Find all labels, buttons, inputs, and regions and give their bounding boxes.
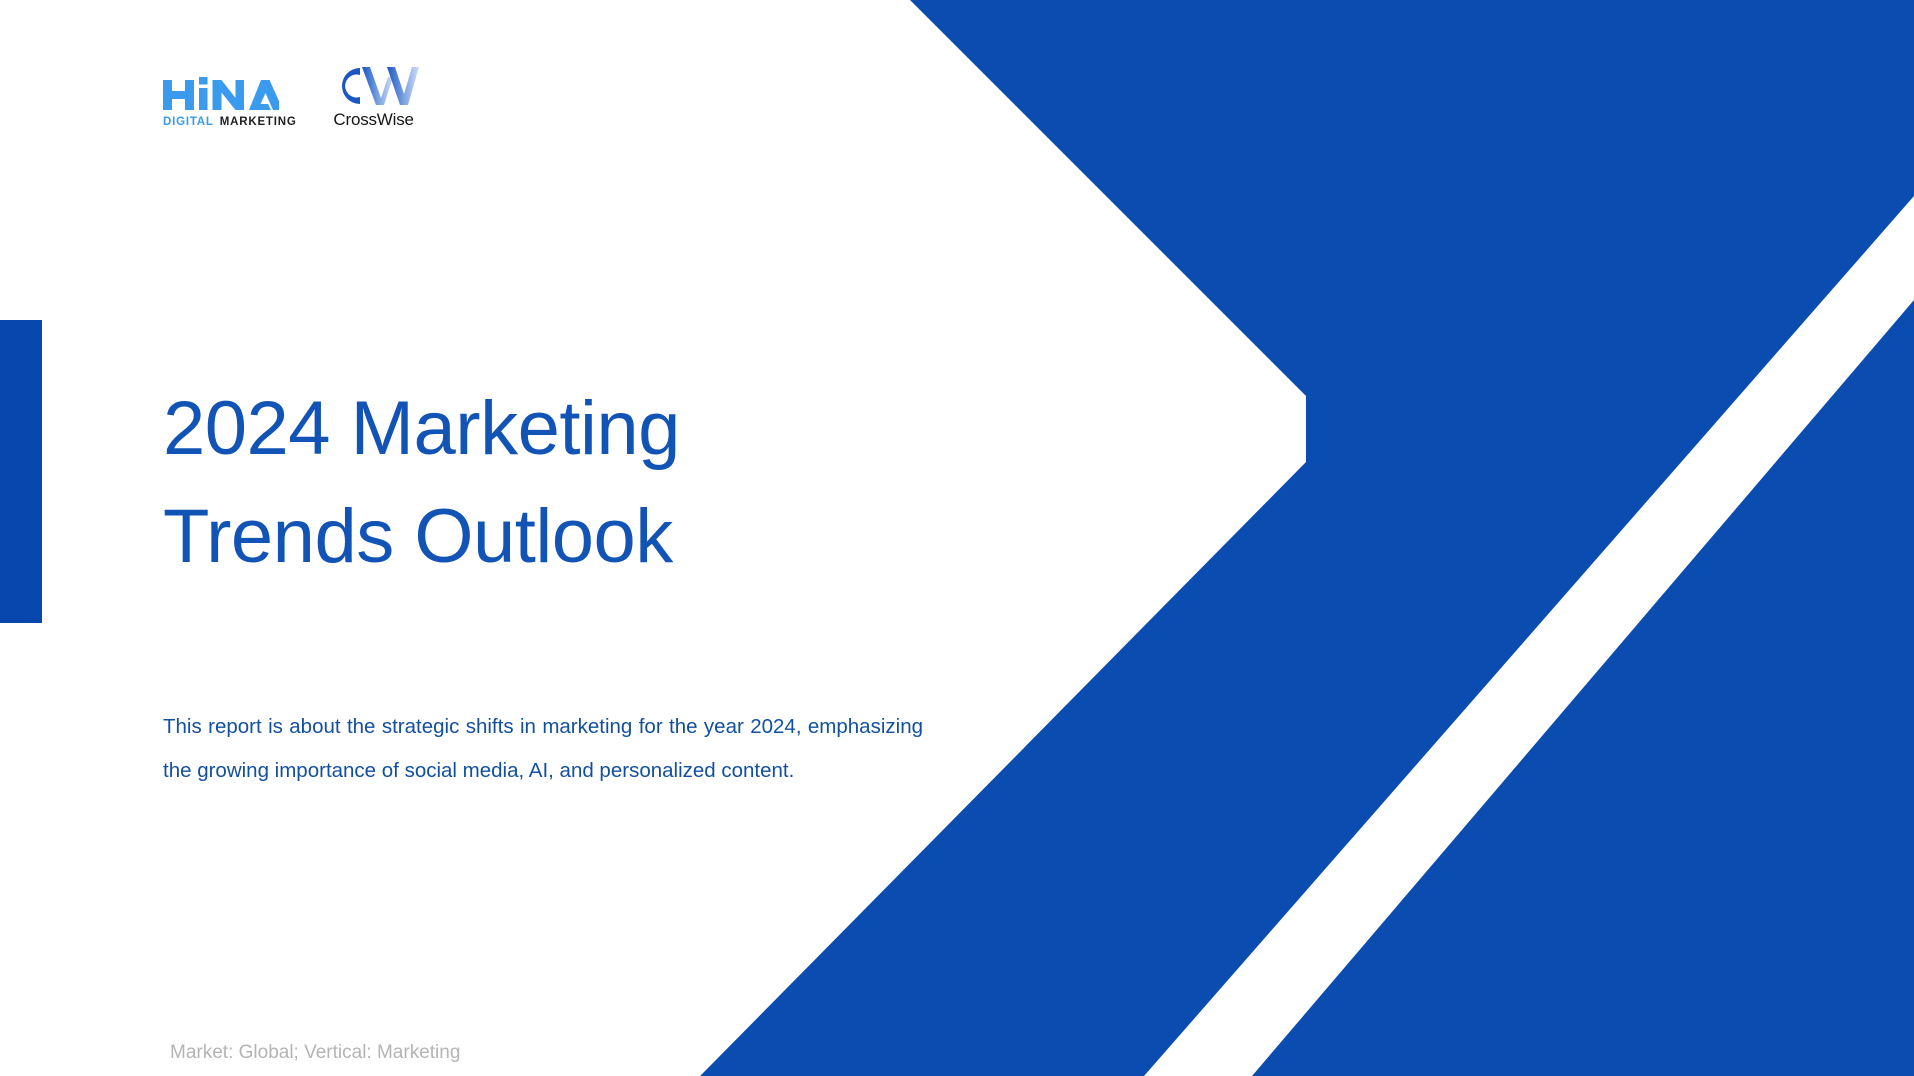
logo-lockup: DIGITAL MARKETING xyxy=(163,62,419,128)
blue-base-field xyxy=(910,0,1914,1076)
white-diagonal-stripe xyxy=(1144,196,1914,1076)
footer-meta: Market: Global; Vertical: Marketing xyxy=(170,1043,460,1062)
crosswise-monogram-icon xyxy=(329,62,419,110)
hina-tagline: DIGITAL MARKETING xyxy=(163,117,297,129)
hina-tagline-marketing: MARKETING xyxy=(220,117,297,129)
hina-logo: DIGITAL MARKETING xyxy=(163,73,297,129)
hina-wordmark-icon xyxy=(163,73,279,113)
page-title: 2024 Marketing Trends Outlook xyxy=(163,375,863,591)
shape-top-right-field xyxy=(910,0,1914,553)
crosswise-wordmark: CrossWise xyxy=(333,111,413,128)
title-slide: DIGITAL MARKETING xyxy=(0,0,1914,1076)
crosswise-logo: CrossWise xyxy=(329,62,419,128)
blue-base-field-fill xyxy=(910,0,1914,1076)
left-accent-bar xyxy=(0,320,42,623)
hina-tagline-digital: DIGITAL xyxy=(163,117,214,129)
page-subtitle: This report is about the strategic shift… xyxy=(163,705,923,793)
